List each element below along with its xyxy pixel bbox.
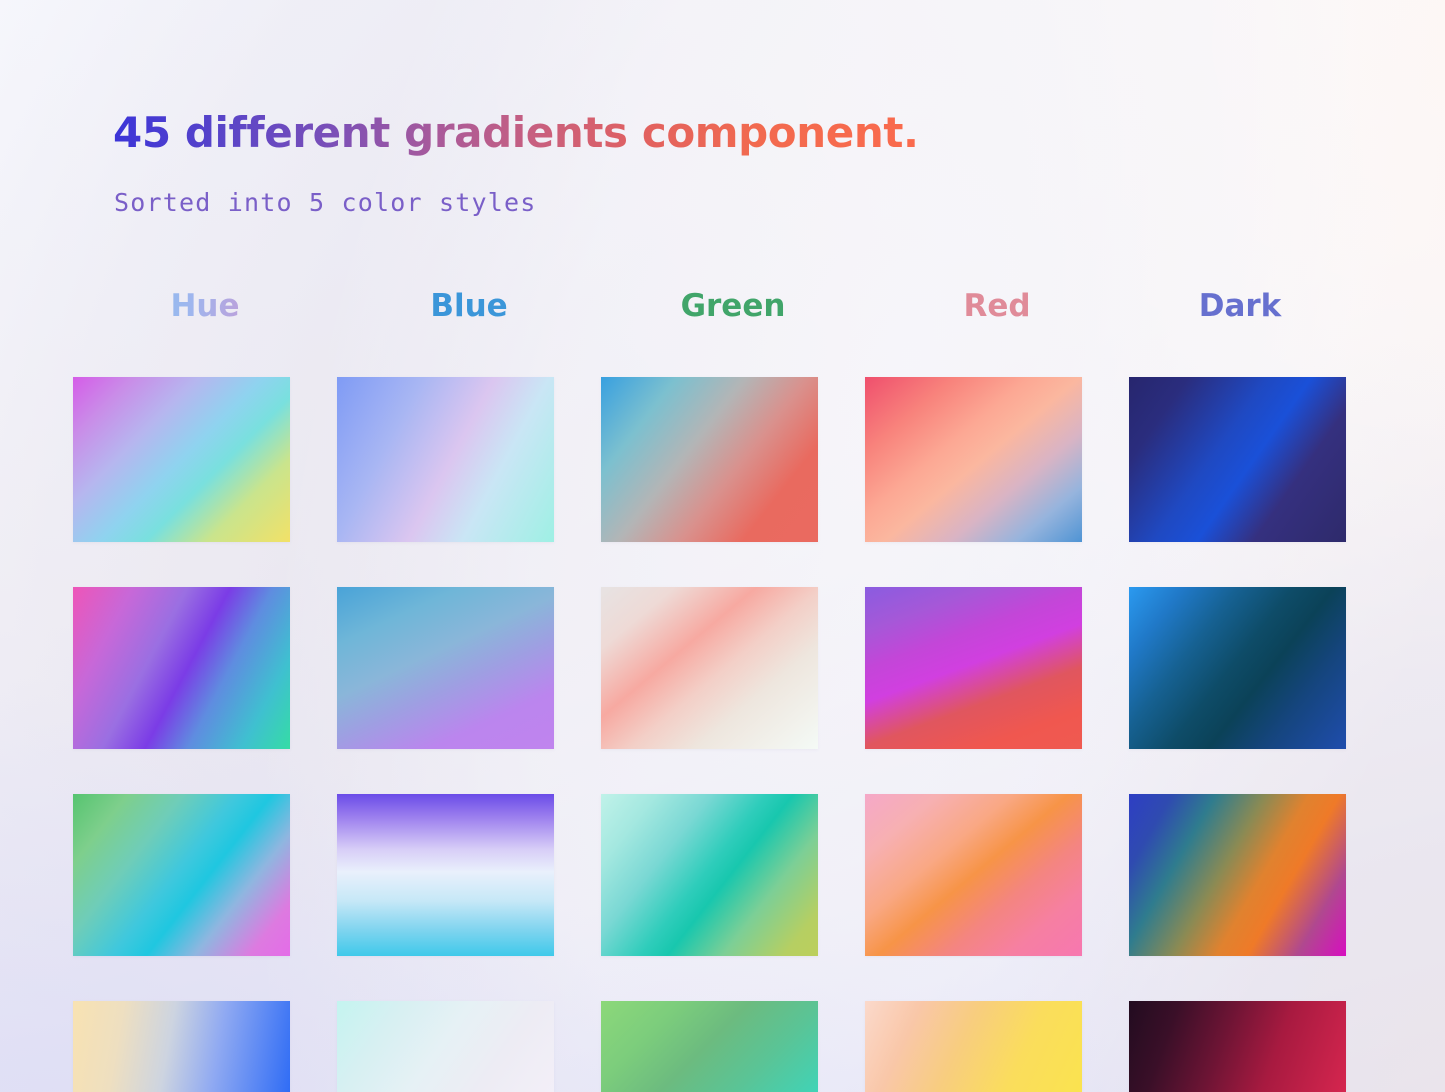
gradient-showcase-page: 45 different gradients component. Sorted… — [0, 0, 1445, 1092]
page-subtitle: Sorted into 5 color styles — [114, 188, 537, 217]
gradient-swatch-grid — [73, 377, 1351, 1092]
column-header-red[interactable]: Red — [865, 288, 1129, 324]
gradient-swatch-dark-2[interactable] — [1129, 587, 1346, 749]
gradient-swatch-red-1[interactable] — [865, 377, 1082, 542]
column-headers: Hue Blue Green Red Dark — [73, 288, 1351, 324]
page-title: 45 different gradients component. — [113, 108, 919, 157]
gradient-swatch-red-2[interactable] — [865, 587, 1082, 749]
gradient-swatch-blue-3[interactable] — [337, 794, 554, 956]
gradient-swatch-dark-1[interactable] — [1129, 377, 1346, 542]
column-header-hue[interactable]: Hue — [73, 288, 337, 324]
gradient-swatch-hue-1[interactable] — [73, 377, 290, 542]
gradient-swatch-green-3[interactable] — [601, 794, 818, 956]
gradient-swatch-green-2[interactable] — [601, 587, 818, 749]
gradient-swatch-red-4[interactable] — [865, 1001, 1082, 1092]
gradient-swatch-hue-3[interactable] — [73, 794, 290, 956]
gradient-swatch-hue-4[interactable] — [73, 1001, 290, 1092]
column-header-green[interactable]: Green — [601, 288, 865, 324]
gradient-swatch-green-4[interactable] — [601, 1001, 818, 1092]
gradient-swatch-blue-1[interactable] — [337, 377, 554, 542]
column-header-dark[interactable]: Dark — [1129, 288, 1351, 324]
gradient-swatch-hue-2[interactable] — [73, 587, 290, 749]
gradient-swatch-dark-3[interactable] — [1129, 794, 1346, 956]
gradient-swatch-blue-2[interactable] — [337, 587, 554, 749]
gradient-swatch-dark-4[interactable] — [1129, 1001, 1346, 1092]
column-header-blue[interactable]: Blue — [337, 288, 601, 324]
gradient-swatch-red-3[interactable] — [865, 794, 1082, 956]
gradient-swatch-green-1[interactable] — [601, 377, 818, 542]
gradient-swatch-blue-4[interactable] — [337, 1001, 554, 1092]
